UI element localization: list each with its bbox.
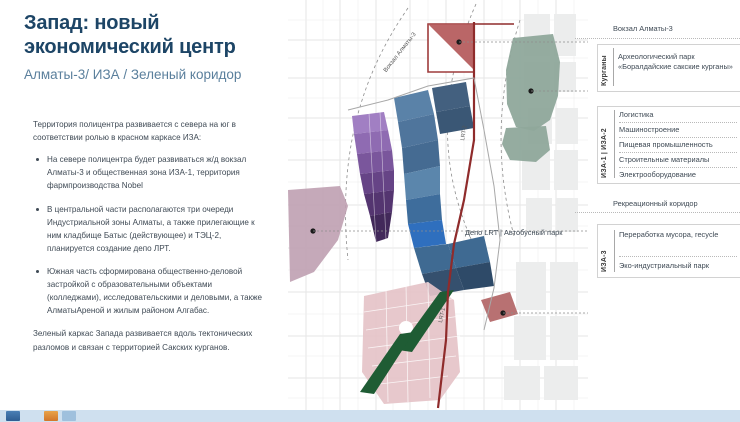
legend-item-rekreacionnyi-koridor: Рекреационный коридор xyxy=(613,199,737,209)
legend-divider xyxy=(619,256,737,257)
app-icon[interactable] xyxy=(62,411,76,421)
legend-item-arheopark: Археологический парк «Боралдайские сакск… xyxy=(618,52,736,72)
legend-divider xyxy=(619,167,737,168)
legend-item-stroymaterialy: Строительные материалы xyxy=(619,155,740,165)
page-subtitle: Алматы-3/ ИЗА / Зеленый коридор xyxy=(24,66,254,84)
legend-item-eko-industrialnyi-park: Эко-индустриальный парк xyxy=(619,261,740,271)
legend-item-mashinostroenie: Машиностроение xyxy=(619,125,737,135)
legend-item-logistika: Логистика xyxy=(619,110,737,120)
list-item: На севере полицентра будет развиваться ж… xyxy=(33,153,265,192)
legend-group-label-kurgany: Курганы xyxy=(601,48,608,86)
legend-group-label-iza3: ИЗА-3 xyxy=(601,230,608,272)
left-text-panel: Запад: новый экономический центр Алматы-… xyxy=(0,0,288,410)
legend-divider xyxy=(575,38,740,39)
window-icon[interactable] xyxy=(6,411,20,421)
legend-group-rule xyxy=(613,48,614,86)
body-text-block: Территория полицентра развивается с севе… xyxy=(33,118,265,363)
browser-icon[interactable] xyxy=(44,411,58,421)
legend-group-rule xyxy=(614,230,615,272)
list-item: Южная часть сформирована общественно-дел… xyxy=(33,265,265,317)
list-item: В центральной части располагаются три оч… xyxy=(33,203,265,255)
legend-item-pererabotka-musora: Переработка мусора, recycle xyxy=(619,230,737,240)
slide-canvas: Запад: новый экономический центр Алматы-… xyxy=(0,0,740,422)
legend-item-pischevaya: Пищевая промышленность xyxy=(619,140,740,150)
legend-item-elektrooborudovanie: Электрооборудование xyxy=(619,170,740,180)
legend-item-vokzal-almaty-3: Вокзал Алматы-3 xyxy=(613,24,737,34)
legend-group-rule xyxy=(614,110,615,178)
bullet-list: На севере полицентра будет развиваться ж… xyxy=(33,153,265,317)
page-title: Запад: новый экономический центр xyxy=(24,11,274,60)
legend-divider xyxy=(619,152,737,153)
legend-group-label-iza12: ИЗА-1 | ИЗА-2 xyxy=(601,110,608,178)
map-svg xyxy=(288,0,588,410)
legend-divider xyxy=(619,122,737,123)
map-figure: Вокзал Алматы-3 LRT-2 LRT-1 xyxy=(288,0,588,410)
legend-divider xyxy=(619,137,737,138)
intro-paragraph: Территория полицентра развивается с севе… xyxy=(33,118,265,144)
map-legend: Вокзал Алматы-3 Курганы Археологический … xyxy=(575,0,740,410)
closing-paragraph: Зеленый каркас Запада развивается вдоль … xyxy=(33,327,265,353)
taskbar[interactable] xyxy=(0,410,740,422)
legend-divider xyxy=(575,212,740,213)
zone-vokzal-almaty-3 xyxy=(428,24,474,72)
